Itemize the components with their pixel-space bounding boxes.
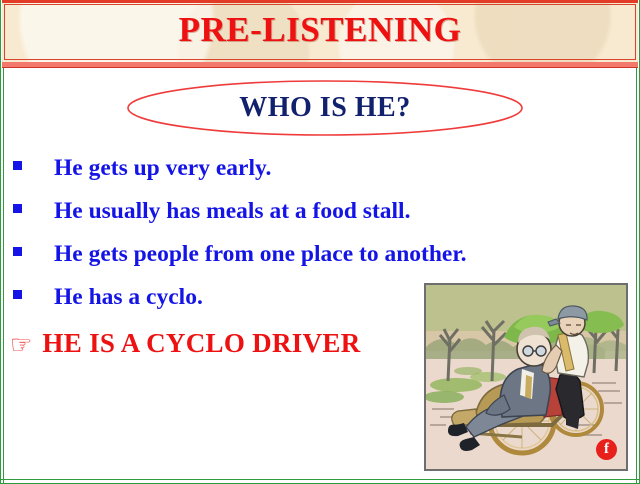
square-bullet-icon — [13, 290, 22, 299]
list-item: He gets up very early. — [0, 155, 470, 198]
slide-title: PRE-LISTENING — [0, 8, 640, 52]
list-item-label: He gets people from one place to another… — [54, 241, 467, 268]
slide-border-bottom — [0, 479, 640, 484]
conclusion-line: ☞ HE IS A CYCLO DRIVER — [0, 328, 361, 359]
list-item-label: He has a cyclo. — [54, 284, 203, 311]
list-item-label: He gets up very early. — [54, 155, 271, 182]
title-band-bottom-rule — [2, 62, 638, 68]
bullet-list: He gets up very early. He usually has me… — [0, 155, 470, 327]
cyclo-illustration: f — [424, 283, 628, 471]
heading-text: WHO IS HE? — [126, 79, 524, 137]
square-bullet-icon — [13, 161, 22, 170]
list-item: He gets people from one place to another… — [0, 241, 470, 284]
title-band-top-rule — [2, 0, 638, 3]
slide-border-right — [636, 0, 640, 484]
pointing-hand-icon: ☞ — [10, 333, 32, 358]
square-bullet-icon — [13, 204, 22, 213]
watermark-badge: f — [596, 439, 617, 460]
conclusion-label: HE IS A CYCLO DRIVER — [42, 328, 360, 359]
slide-canvas: PRE-LISTENING WHO IS HE? He gets up very… — [0, 0, 640, 484]
heading-oval: WHO IS HE? — [126, 79, 524, 137]
list-item: He has a cyclo. — [0, 284, 470, 327]
square-bullet-icon — [13, 247, 22, 256]
list-item: He usually has meals at a food stall. — [0, 198, 470, 241]
list-item-label: He usually has meals at a food stall. — [54, 198, 410, 225]
